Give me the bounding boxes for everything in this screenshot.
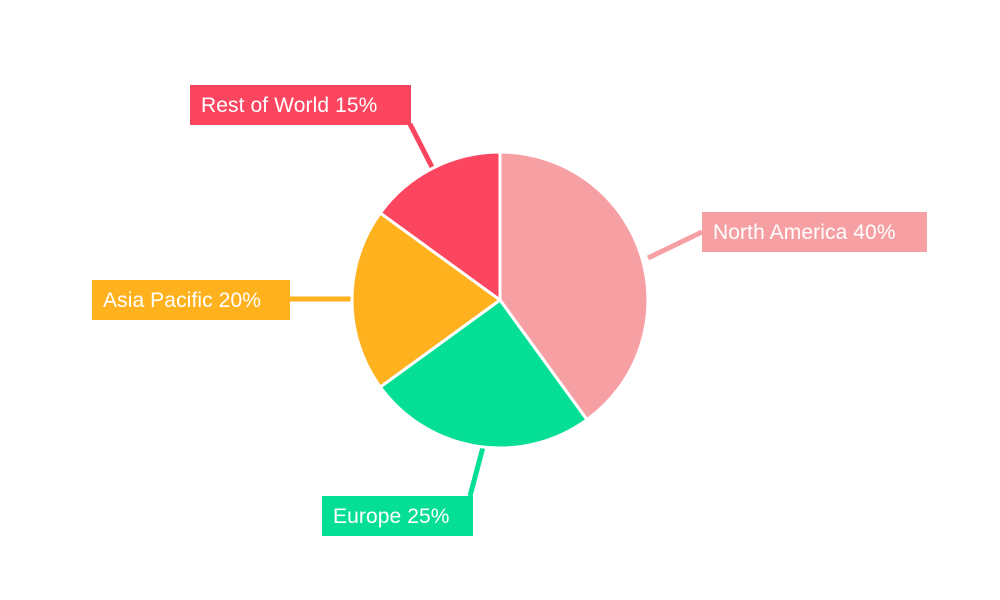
pie-label-asia-pacific-text: Asia Pacific 20% (103, 290, 261, 311)
pie-label-rest-of-world-text: Rest of World 15% (201, 95, 377, 116)
leader-line-north-america (648, 232, 702, 258)
pie-label-asia-pacific[interactable]: Asia Pacific 20% (92, 280, 290, 320)
pie-label-north-america-text: North America 40% (713, 222, 896, 243)
pie-label-north-america[interactable]: North America 40% (702, 212, 927, 252)
pie-label-europe[interactable]: Europe 25% (322, 496, 473, 536)
pie-label-europe-text: Europe 25% (333, 506, 450, 527)
pie-wedges (352, 152, 648, 448)
pie-chart-figure: North America 40% Europe 25% Asia Pacifi… (0, 0, 1000, 600)
leader-line-europe (470, 447, 483, 496)
leader-line-rest-of-world (410, 124, 433, 169)
pie-label-rest-of-world[interactable]: Rest of World 15% (190, 85, 411, 125)
